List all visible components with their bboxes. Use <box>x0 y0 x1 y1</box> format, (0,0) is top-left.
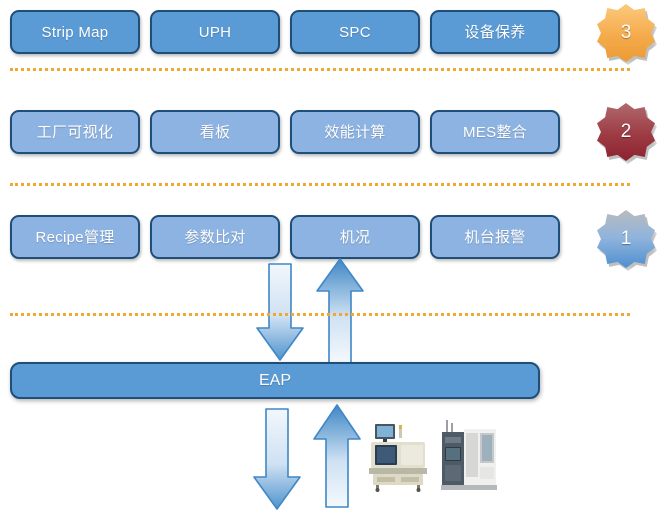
tier2-button-mes-integration[interactable]: MES整合 <box>430 110 560 154</box>
tier1-button-machine-status[interactable]: 机况 <box>290 215 420 259</box>
equipment-photo-cabinet <box>437 417 501 493</box>
equipment-photo-inspection <box>363 420 433 492</box>
tier3-button-spc[interactable]: SPC <box>290 10 420 54</box>
divider-tier3-tier2 <box>10 68 630 71</box>
eap-bar[interactable]: EAP <box>10 362 540 399</box>
tier2-button-kanban[interactable]: 看板 <box>150 110 280 154</box>
tier2-button-factory-visualization[interactable]: 工厂可视化 <box>10 110 140 154</box>
arrow-up-from-equipment <box>312 404 364 512</box>
tier3-button-equipment-maintenance[interactable]: 设备保养 <box>430 10 560 54</box>
tier3-button-uph[interactable]: UPH <box>150 10 280 54</box>
diagram-canvas: Strip Map UPH SPC 设备保养 3 工厂可视化 看板 效能计算 M… <box>0 0 661 516</box>
divider-tier2-tier1 <box>10 183 630 186</box>
tier1-button-parameter-comparison[interactable]: 参数比对 <box>150 215 280 259</box>
divider-tier1-eap <box>10 313 630 316</box>
tier1-button-machine-alarm[interactable]: 机台报警 <box>430 215 560 259</box>
tier2-button-efficiency-calculation[interactable]: 效能计算 <box>290 110 420 154</box>
tier1-button-recipe-management[interactable]: Recipe管理 <box>10 215 140 259</box>
arrow-down-to-equipment <box>252 408 304 513</box>
tier3-button-strip-map[interactable]: Strip Map <box>10 10 140 54</box>
